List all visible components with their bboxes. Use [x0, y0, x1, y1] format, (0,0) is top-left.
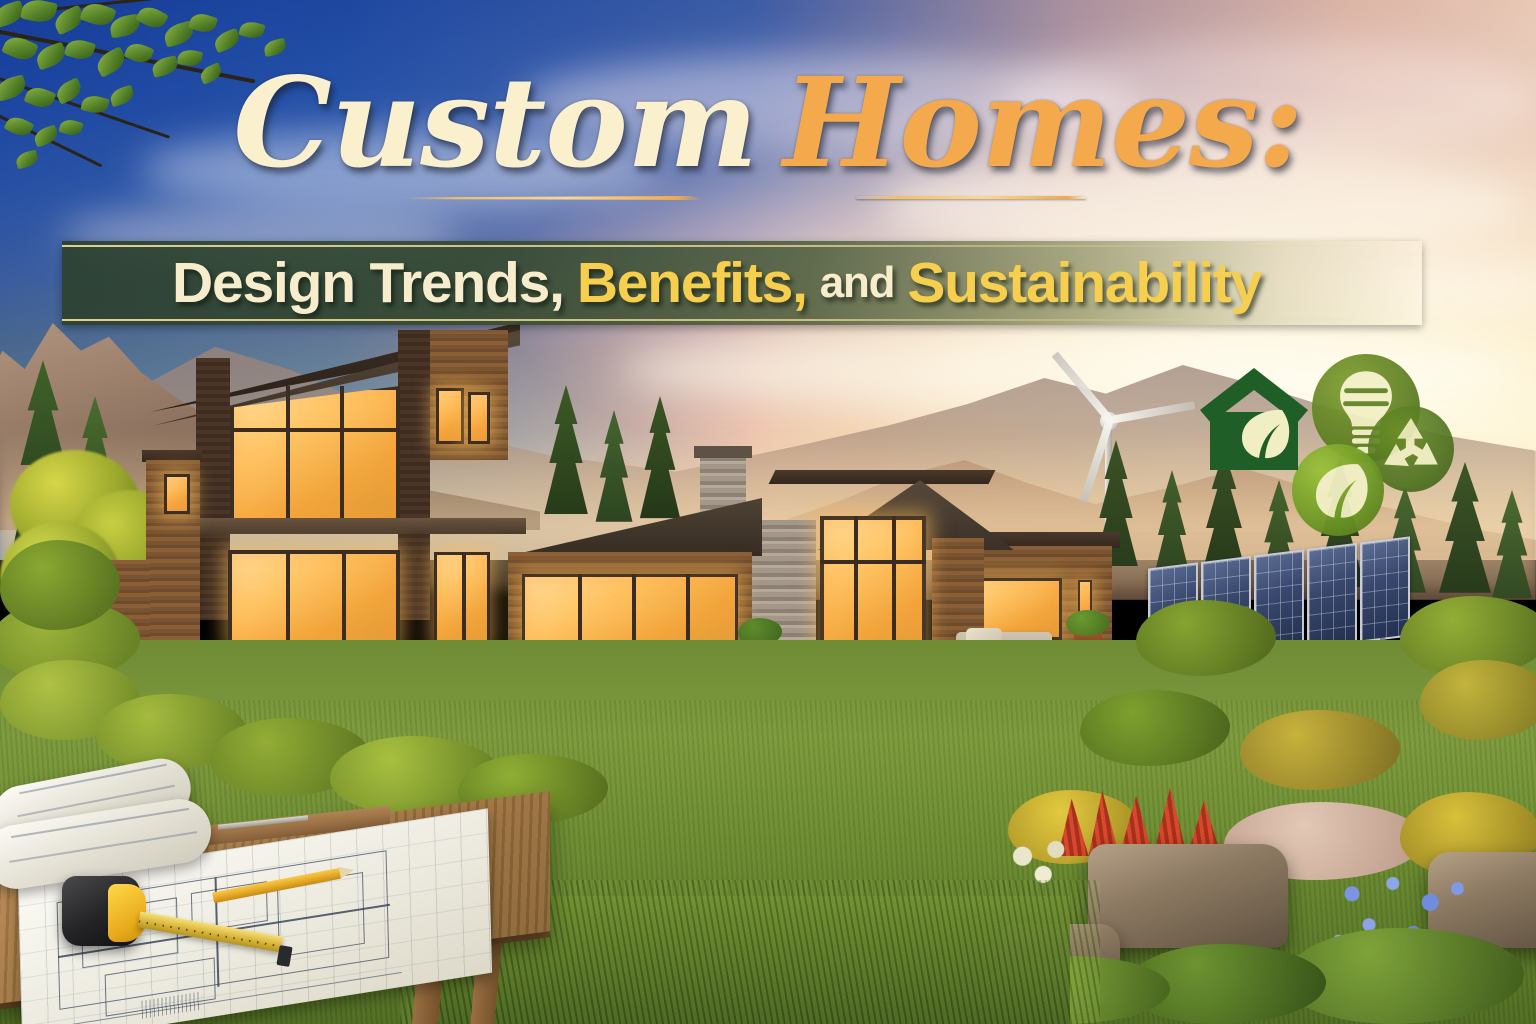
subtitle-text: Design Trends, Benefits, and Sustainabil…: [62, 241, 1422, 325]
title-underline-right: [856, 196, 1086, 199]
sustainability-icon-group: [1194, 352, 1434, 542]
turbine-blade: [1109, 401, 1195, 424]
subtitle-segment-sustainability: Sustainability: [907, 255, 1261, 312]
tree-branch-overlay: [0, 0, 330, 185]
turbine-blade: [1052, 352, 1113, 423]
eco-house-icon: [1194, 360, 1314, 478]
hero-banner: CustomHomes: Design Trends, Benefits, an…: [0, 0, 1536, 1024]
subtitle-segment-and: and: [820, 261, 895, 305]
solar-panel: [1307, 543, 1357, 649]
subtitle-banner: Design Trends, Benefits, and Sustainabil…: [62, 241, 1422, 325]
boulder: [1088, 844, 1288, 948]
title-underline-group: [0, 196, 1536, 208]
title-underline-left: [404, 196, 702, 200]
subtitle-segment-design-trends: Design Trends,: [172, 255, 564, 312]
subtitle-segment-benefits: Benefits,: [577, 255, 807, 312]
